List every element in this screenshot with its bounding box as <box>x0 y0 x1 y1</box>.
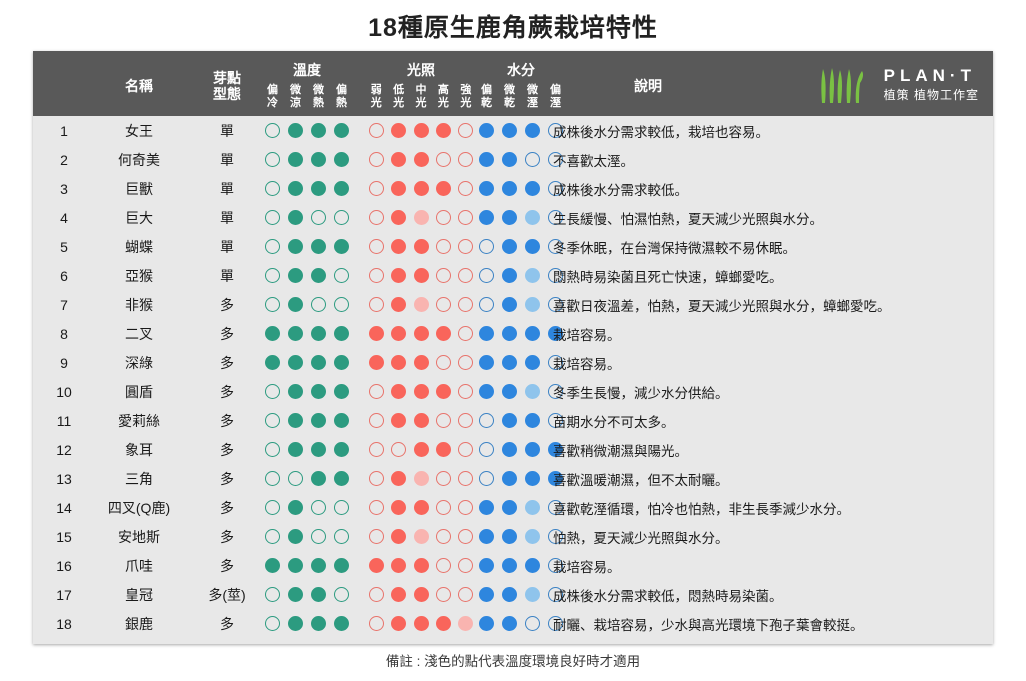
dot-light-0-empty <box>369 616 384 631</box>
dot-slot <box>284 210 307 225</box>
dot-water-2-full <box>525 442 540 457</box>
header-group-temperature: 溫度 <box>261 60 353 80</box>
dot-temperature-2-full <box>311 384 326 399</box>
dot-slot <box>410 123 432 138</box>
dot-slot <box>330 297 353 312</box>
dot-slot <box>498 413 521 428</box>
dot-slot <box>475 268 498 283</box>
row-name: 非猴 <box>91 290 187 319</box>
dot-slot <box>261 181 284 196</box>
dot-water-1-full <box>502 442 517 457</box>
header-sub-temp-2: 微 熱 <box>307 84 330 110</box>
dot-temperature-1-full <box>288 558 303 573</box>
dot-slot <box>455 239 477 254</box>
dot-slot <box>284 326 307 341</box>
dot-slot <box>410 587 432 602</box>
dot-slot <box>432 558 454 573</box>
dot-water-2-light <box>525 587 540 602</box>
dot-temperature-0-empty <box>265 210 280 225</box>
dot-slot <box>498 384 521 399</box>
dot-light-0-empty <box>369 442 384 457</box>
dot-temperature-3-full <box>334 442 349 457</box>
dot-slot <box>365 587 387 602</box>
dot-slot <box>410 413 432 428</box>
dot-light-0-empty <box>369 529 384 544</box>
row-description: 喜歡乾溼循環，怕冷也怕熱，非生長季減少水分。 <box>553 493 989 522</box>
row-bud-type: 多 <box>197 406 257 435</box>
row-name: 蝴蝶 <box>91 232 187 261</box>
dot-water-2-full <box>525 123 540 138</box>
dot-slot <box>284 558 307 573</box>
dot-light-1-full <box>391 123 406 138</box>
dot-slot <box>455 616 477 631</box>
dot-water-0-empty <box>479 239 494 254</box>
dot-slot <box>365 471 387 486</box>
dot-slot <box>284 616 307 631</box>
dot-light-0-empty <box>369 152 384 167</box>
dot-slot <box>307 587 330 602</box>
table-row: 8二叉多栽培容易。 <box>33 319 993 348</box>
dot-light-4-empty <box>458 500 473 515</box>
row-bud-type: 單 <box>197 174 257 203</box>
dot-light-1-full <box>391 326 406 341</box>
row-bud-type: 單 <box>197 145 257 174</box>
dot-slot <box>498 268 521 283</box>
dot-slot <box>365 123 387 138</box>
dot-slot <box>521 616 544 631</box>
row-bud-type: 多 <box>197 290 257 319</box>
dot-slot <box>261 210 284 225</box>
page-root: 18種原生鹿角蕨栽培特性 名稱 芽點 型態 說明 溫度 偏 冷 微 涼 微 熱 … <box>0 0 1026 681</box>
dot-slot <box>432 442 454 457</box>
row-description: 喜歡日夜溫差，怕熱，夏天減少光照與水分，蟑螂愛吃。 <box>553 290 989 319</box>
dot-light-1-full <box>391 181 406 196</box>
dot-water-2-light <box>525 268 540 283</box>
row-bud-type: 單 <box>197 261 257 290</box>
row-index: 17 <box>47 580 81 609</box>
dot-slot <box>307 123 330 138</box>
dot-slot <box>365 239 387 254</box>
table-row: 1女王單成株後水分需求較低，栽培也容易。 <box>33 116 993 145</box>
row-description: 耐曬、栽培容易，少水與高光環境下孢子葉會較挺。 <box>553 609 989 638</box>
dot-temperature-1-full <box>288 152 303 167</box>
dot-slot <box>330 616 353 631</box>
dot-slot <box>432 384 454 399</box>
row-index: 7 <box>47 290 81 319</box>
dot-water-2-empty <box>525 152 540 167</box>
row-dots-temperature <box>261 580 353 609</box>
dot-slot <box>455 355 477 370</box>
dot-slot <box>521 326 544 341</box>
dot-slot <box>475 587 498 602</box>
dot-slot <box>498 239 521 254</box>
dot-temperature-1-full <box>288 181 303 196</box>
row-dots-light <box>365 551 477 580</box>
row-dots-light <box>365 493 477 522</box>
row-index: 14 <box>47 493 81 522</box>
dot-slot <box>365 355 387 370</box>
dot-water-2-light <box>525 297 540 312</box>
row-dots-temperature <box>261 232 353 261</box>
row-bud-type: 多 <box>197 464 257 493</box>
dot-slot <box>307 326 330 341</box>
dot-light-1-full <box>391 384 406 399</box>
dot-slot <box>330 123 353 138</box>
dot-slot <box>330 210 353 225</box>
dot-slot <box>284 123 307 138</box>
row-description: 苗期水分不可太多。 <box>553 406 989 435</box>
dot-slot <box>307 413 330 428</box>
dot-slot <box>307 355 330 370</box>
row-name: 何奇美 <box>91 145 187 174</box>
table-row: 18銀鹿多耐曬、栽培容易，少水與高光環境下孢子葉會較挺。 <box>33 609 993 638</box>
table-row: 4巨大單生長緩慢、怕濕怕熱，夏天減少光照與水分。 <box>33 203 993 232</box>
dot-light-2-full <box>414 500 429 515</box>
header-name: 名稱 <box>91 78 187 94</box>
dot-slot <box>475 384 498 399</box>
dot-slot <box>387 181 409 196</box>
dot-slot <box>475 413 498 428</box>
dot-slot <box>475 500 498 515</box>
row-description: 成株後水分需求較低。 <box>553 174 989 203</box>
row-name: 三角 <box>91 464 187 493</box>
dot-slot <box>365 181 387 196</box>
row-index: 6 <box>47 261 81 290</box>
row-description: 栽培容易。 <box>553 319 989 348</box>
dot-water-2-light <box>525 384 540 399</box>
dot-light-0-empty <box>369 500 384 515</box>
dot-slot <box>330 384 353 399</box>
dot-slot <box>410 355 432 370</box>
dot-slot <box>365 384 387 399</box>
dot-light-0-full <box>369 355 384 370</box>
row-dots-temperature <box>261 145 353 174</box>
dot-slot <box>498 558 521 573</box>
dot-light-1-full <box>391 239 406 254</box>
dot-slot <box>410 239 432 254</box>
dot-temperature-1-full <box>288 384 303 399</box>
dot-slot <box>261 558 284 573</box>
dot-slot <box>498 529 521 544</box>
dot-slot <box>521 384 544 399</box>
row-dots-light <box>365 261 477 290</box>
dot-light-3-full <box>436 442 451 457</box>
dot-temperature-3-full <box>334 558 349 573</box>
dot-slot <box>284 268 307 283</box>
dot-light-3-empty <box>436 587 451 602</box>
dot-slot <box>284 413 307 428</box>
dot-slot <box>455 442 477 457</box>
table-row: 6亞猴單悶熱時易染菌且死亡快速，蟑螂愛吃。 <box>33 261 993 290</box>
dot-temperature-0-full <box>265 558 280 573</box>
dot-temperature-0-empty <box>265 442 280 457</box>
row-dots-light <box>365 435 477 464</box>
dot-slot <box>387 413 409 428</box>
dot-light-1-full <box>391 500 406 515</box>
dot-temperature-2-empty <box>311 210 326 225</box>
dot-slot <box>261 326 284 341</box>
dot-slot <box>498 326 521 341</box>
dot-light-0-empty <box>369 210 384 225</box>
table-header: 名稱 芽點 型態 說明 溫度 偏 冷 微 涼 微 熱 偏 熱 光照 弱 光 低 … <box>33 51 993 116</box>
dot-slot <box>410 529 432 544</box>
dot-slot <box>498 210 521 225</box>
dot-temperature-1-full <box>288 297 303 312</box>
dot-light-3-empty <box>436 529 451 544</box>
dot-slot <box>387 529 409 544</box>
dot-slot <box>432 152 454 167</box>
dot-slot <box>521 181 544 196</box>
dot-slot <box>521 471 544 486</box>
dot-slot <box>284 471 307 486</box>
row-name: 象耳 <box>91 435 187 464</box>
dot-slot <box>365 442 387 457</box>
dot-water-1-full <box>502 471 517 486</box>
dot-slot <box>330 558 353 573</box>
dot-light-2-full <box>414 413 429 428</box>
dot-slot <box>365 297 387 312</box>
brand-logo-text: PLAN·T 植策 植物工作室 <box>884 66 979 104</box>
dot-slot <box>475 442 498 457</box>
dot-light-4-empty <box>458 413 473 428</box>
dot-slot <box>307 152 330 167</box>
dot-light-0-empty <box>369 268 384 283</box>
dot-slot <box>330 239 353 254</box>
dot-water-0-full <box>479 558 494 573</box>
dot-light-3-empty <box>436 558 451 573</box>
dot-light-4-empty <box>458 152 473 167</box>
dot-light-4-empty <box>458 355 473 370</box>
dot-slot <box>387 384 409 399</box>
brand-subtitle: 植策 植物工作室 <box>884 88 979 104</box>
dot-water-0-full <box>479 529 494 544</box>
dot-light-4-empty <box>458 442 473 457</box>
table-row: 14四叉(Q鹿)多喜歡乾溼循環，怕冷也怕熱，非生長季減少水分。 <box>33 493 993 522</box>
dot-slot <box>475 355 498 370</box>
dot-slot <box>330 413 353 428</box>
dot-temperature-2-empty <box>311 529 326 544</box>
dot-slot <box>284 500 307 515</box>
dot-slot <box>261 442 284 457</box>
dot-water-1-full <box>502 123 517 138</box>
dot-slot <box>410 326 432 341</box>
row-index: 3 <box>47 174 81 203</box>
dot-light-0-empty <box>369 471 384 486</box>
dot-light-1-full <box>391 268 406 283</box>
dot-slot <box>432 181 454 196</box>
dot-slot <box>521 355 544 370</box>
dot-light-2-full <box>414 152 429 167</box>
row-dots-light <box>365 174 477 203</box>
dot-water-0-empty <box>479 471 494 486</box>
dot-light-3-empty <box>436 297 451 312</box>
dot-temperature-0-empty <box>265 616 280 631</box>
dot-slot <box>284 239 307 254</box>
dot-light-4-empty <box>458 210 473 225</box>
dot-water-0-full <box>479 326 494 341</box>
dot-slot <box>365 210 387 225</box>
plant-strokes-icon <box>818 65 872 105</box>
dot-slot <box>387 442 409 457</box>
row-bud-type: 多 <box>197 377 257 406</box>
row-index: 15 <box>47 522 81 551</box>
dot-slot <box>365 268 387 283</box>
dot-slot <box>475 123 498 138</box>
dot-slot <box>261 500 284 515</box>
dot-temperature-1-empty <box>288 471 303 486</box>
dot-temperature-0-empty <box>265 297 280 312</box>
dot-water-2-full <box>525 558 540 573</box>
dot-water-1-full <box>502 326 517 341</box>
dot-slot <box>455 587 477 602</box>
dot-temperature-1-full <box>288 413 303 428</box>
dot-temperature-2-full <box>311 616 326 631</box>
dot-light-2-light <box>414 210 429 225</box>
dot-slot <box>432 297 454 312</box>
dot-light-4-empty <box>458 529 473 544</box>
dot-temperature-1-full <box>288 355 303 370</box>
row-index: 11 <box>47 406 81 435</box>
dot-light-1-full <box>391 297 406 312</box>
dot-light-1-full <box>391 355 406 370</box>
dot-light-4-empty <box>458 297 473 312</box>
page-title: 18種原生鹿角蕨栽培特性 <box>0 8 1026 44</box>
dot-temperature-2-empty <box>311 297 326 312</box>
dot-light-4-empty <box>458 239 473 254</box>
dot-water-2-full <box>525 471 540 486</box>
dot-water-0-empty <box>479 442 494 457</box>
dot-slot <box>284 152 307 167</box>
dot-temperature-0-empty <box>265 384 280 399</box>
dot-temperature-3-full <box>334 123 349 138</box>
dot-slot <box>387 587 409 602</box>
row-name: 銀鹿 <box>91 609 187 638</box>
dot-temperature-0-empty <box>265 152 280 167</box>
dot-slot <box>521 500 544 515</box>
dot-light-0-empty <box>369 181 384 196</box>
table-row: 2何奇美單不喜歡太溼。 <box>33 145 993 174</box>
table-row: 17皇冠多(莖)成株後水分需求較低，悶熱時易染菌。 <box>33 580 993 609</box>
row-index: 13 <box>47 464 81 493</box>
dot-temperature-3-empty <box>334 529 349 544</box>
dot-water-1-full <box>502 297 517 312</box>
row-index: 5 <box>47 232 81 261</box>
row-dots-light <box>365 290 477 319</box>
dot-slot <box>261 471 284 486</box>
dot-slot <box>261 587 284 602</box>
dot-slot <box>410 442 432 457</box>
row-dots-light <box>365 232 477 261</box>
dot-temperature-2-full <box>311 558 326 573</box>
dot-slot <box>498 355 521 370</box>
dot-light-1-full <box>391 210 406 225</box>
dot-temperature-3-empty <box>334 297 349 312</box>
dot-light-2-full <box>414 587 429 602</box>
dot-slot <box>365 326 387 341</box>
dot-water-1-full <box>502 181 517 196</box>
row-name: 圓盾 <box>91 377 187 406</box>
dot-slot <box>432 587 454 602</box>
dot-temperature-1-full <box>288 210 303 225</box>
dot-temperature-3-full <box>334 616 349 631</box>
header-sub-water-1: 微 乾 <box>498 84 521 110</box>
dot-slot <box>475 616 498 631</box>
dot-light-3-full <box>436 616 451 631</box>
dot-temperature-1-full <box>288 500 303 515</box>
dot-slot <box>261 355 284 370</box>
row-description: 栽培容易。 <box>553 348 989 377</box>
dot-slot <box>307 616 330 631</box>
dot-slot <box>432 616 454 631</box>
dot-light-1-empty <box>391 442 406 457</box>
dot-light-3-empty <box>436 239 451 254</box>
dot-water-1-full <box>502 558 517 573</box>
dot-slot <box>365 558 387 573</box>
dot-slot <box>387 326 409 341</box>
dot-slot <box>498 587 521 602</box>
dot-slot <box>284 529 307 544</box>
dot-light-3-empty <box>436 268 451 283</box>
dot-slot <box>261 152 284 167</box>
dot-light-4-empty <box>458 123 473 138</box>
row-dots-light <box>365 609 477 638</box>
dot-light-0-empty <box>369 123 384 138</box>
dot-slot <box>498 500 521 515</box>
dot-slot <box>498 442 521 457</box>
dot-slot <box>475 239 498 254</box>
dot-light-3-full <box>436 384 451 399</box>
dot-slot <box>330 587 353 602</box>
dot-slot <box>330 326 353 341</box>
dot-slot <box>521 587 544 602</box>
dot-light-0-empty <box>369 239 384 254</box>
dot-temperature-0-full <box>265 355 280 370</box>
header-sub-temp-1: 微 涼 <box>284 84 307 110</box>
row-name: 亞猴 <box>91 261 187 290</box>
header-subs-temperature: 偏 冷 微 涼 微 熱 偏 熱 <box>261 84 353 110</box>
dot-light-0-empty <box>369 587 384 602</box>
dot-water-1-full <box>502 152 517 167</box>
dot-slot <box>521 558 544 573</box>
row-dots-temperature <box>261 464 353 493</box>
dot-slot <box>307 181 330 196</box>
dot-slot <box>455 384 477 399</box>
row-bud-type: 多 <box>197 348 257 377</box>
row-dots-temperature <box>261 174 353 203</box>
brand-name: PLAN·T <box>884 66 976 86</box>
dot-slot <box>432 239 454 254</box>
dot-temperature-0-empty <box>265 268 280 283</box>
dot-water-0-full <box>479 123 494 138</box>
dot-temperature-1-full <box>288 268 303 283</box>
row-name: 安地斯 <box>91 522 187 551</box>
dot-temperature-1-full <box>288 326 303 341</box>
dot-slot <box>455 558 477 573</box>
dot-water-0-full <box>479 587 494 602</box>
dot-slot <box>387 558 409 573</box>
row-dots-temperature <box>261 551 353 580</box>
header-sub-water-3: 偏 溼 <box>544 84 567 110</box>
dot-water-1-full <box>502 616 517 631</box>
dot-slot <box>410 181 432 196</box>
row-dots-temperature <box>261 116 353 145</box>
dot-slot <box>498 181 521 196</box>
dot-temperature-0-empty <box>265 529 280 544</box>
dot-water-2-light <box>525 210 540 225</box>
dot-water-0-full <box>479 181 494 196</box>
dot-slot <box>521 268 544 283</box>
row-index: 10 <box>47 377 81 406</box>
